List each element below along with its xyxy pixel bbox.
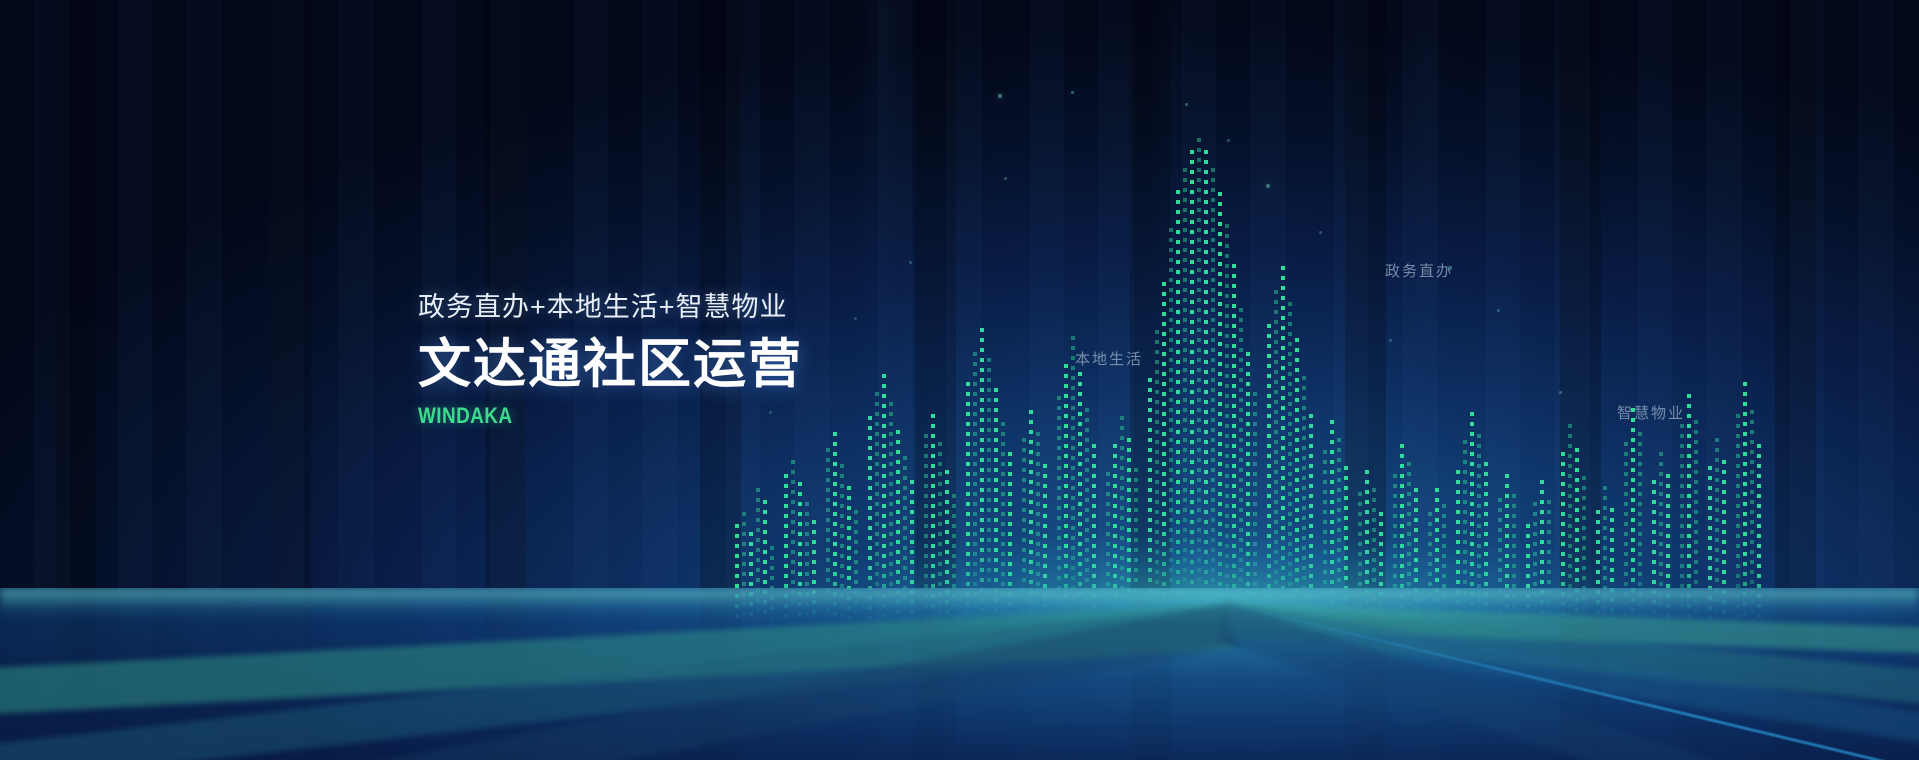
hero-banner: 政务直办本地生活智慧物业 政务直办+本地生活+智慧物业 文达通社区运营 WIND…	[0, 0, 1919, 760]
perspective-ground	[0, 588, 1919, 760]
page-title: 文达通社区运营	[418, 338, 803, 391]
horizon-band	[0, 588, 1919, 622]
headline-block: 政务直办+本地生活+智慧物业 文达通社区运营 WINDAKA	[418, 294, 803, 427]
skyline-label-1: 本地生活	[1075, 348, 1143, 369]
skyline-label-0: 政务直办	[1385, 260, 1453, 281]
subtitle: 政务直办+本地生活+智慧物业	[418, 294, 803, 321]
brand-logo-text: WINDAKA	[418, 405, 749, 427]
skyline-label-2: 智慧物业	[1617, 402, 1685, 423]
